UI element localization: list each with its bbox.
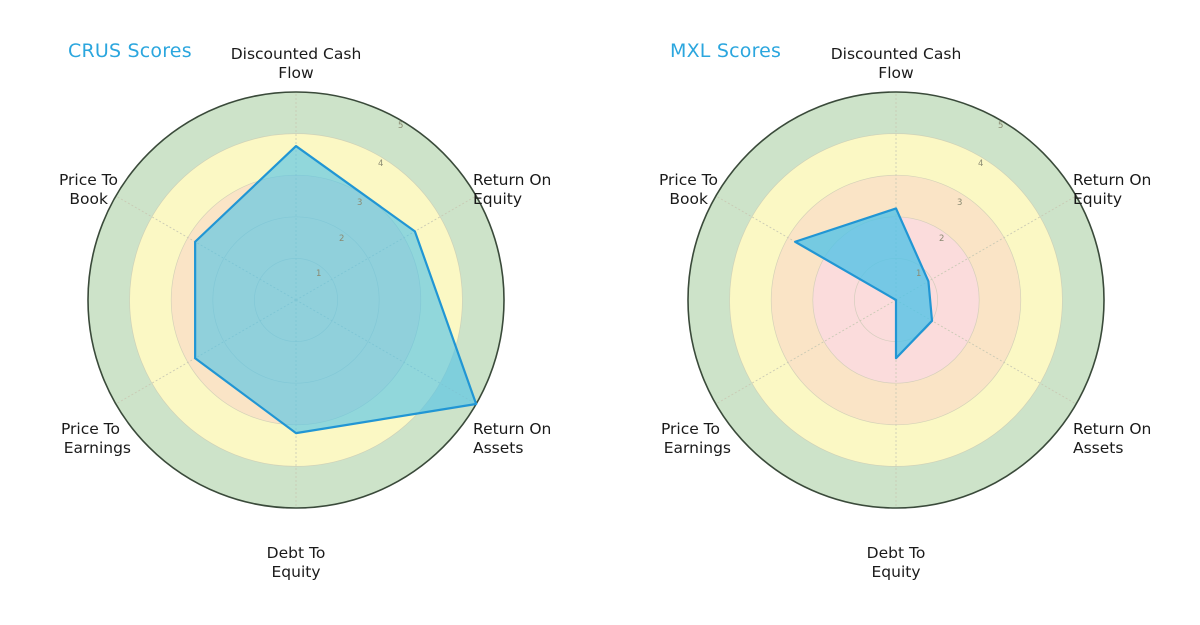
axis-label-price-to-earnings-line1: Price To: [661, 420, 720, 438]
radar-chart-mxl: 1 2 3 4 5 Discounted Cash Flow Return On…: [600, 0, 1200, 625]
axis-label-price-to-book-line1: Price To: [659, 171, 718, 189]
panel-mxl: MXL Scores: [600, 0, 1200, 625]
axis-label-return-on-equity-line2: Equity: [473, 190, 522, 208]
axis-label-price-to-earnings-line1: Price To: [61, 420, 120, 438]
panel-crus: CRUS Scores: [0, 0, 600, 625]
tick-label-5: 5: [398, 121, 403, 131]
axis-label-return-on-equity-line1: Return On: [473, 171, 551, 189]
axis-label-price-to-book-line1: Price To: [59, 171, 118, 189]
radar-chart-crus: 1 2 3 4 5 Discounted Cash Flow Return On…: [0, 0, 600, 625]
axis-label-return-on-equity-line2: Equity: [1073, 190, 1122, 208]
axis-label-price-to-earnings-line2: Earnings: [664, 439, 731, 457]
tick-label-4: 4: [978, 159, 983, 169]
axis-label-debt-to-equity-line2: Equity: [271, 563, 320, 581]
axis-label-debt-to-equity-line1: Debt To: [867, 544, 926, 562]
tick-label-5: 5: [998, 121, 1003, 131]
axis-label-return-on-assets-line1: Return On: [1073, 420, 1151, 438]
axis-label-return-on-assets-line2: Assets: [473, 439, 523, 457]
radar-charts-figure: CRUS Scores: [0, 0, 1200, 625]
tick-label-4: 4: [378, 159, 383, 169]
axis-label-return-on-assets-line1: Return On: [473, 420, 551, 438]
axis-label-price-to-book-line2: Book: [69, 190, 108, 208]
axis-label-price-to-earnings-line2: Earnings: [64, 439, 131, 457]
tick-label-3: 3: [357, 198, 362, 208]
tick-label-2: 2: [339, 234, 344, 244]
tick-label-1: 1: [916, 269, 921, 279]
axis-label-discounted-cash-flow-line1: Discounted Cash: [831, 45, 962, 63]
tick-label-2: 2: [939, 234, 944, 244]
axis-label-discounted-cash-flow-line2: Flow: [278, 64, 314, 82]
axis-label-debt-to-equity-line2: Equity: [871, 563, 920, 581]
axis-label-price-to-book-line2: Book: [669, 190, 708, 208]
axis-label-discounted-cash-flow-line2: Flow: [878, 64, 914, 82]
axis-label-discounted-cash-flow-line1: Discounted Cash: [231, 45, 362, 63]
tick-label-3: 3: [957, 198, 962, 208]
tick-label-1: 1: [316, 269, 321, 279]
axis-label-return-on-equity-line1: Return On: [1073, 171, 1151, 189]
axis-label-return-on-assets-line2: Assets: [1073, 439, 1123, 457]
axis-label-debt-to-equity-line1: Debt To: [267, 544, 326, 562]
